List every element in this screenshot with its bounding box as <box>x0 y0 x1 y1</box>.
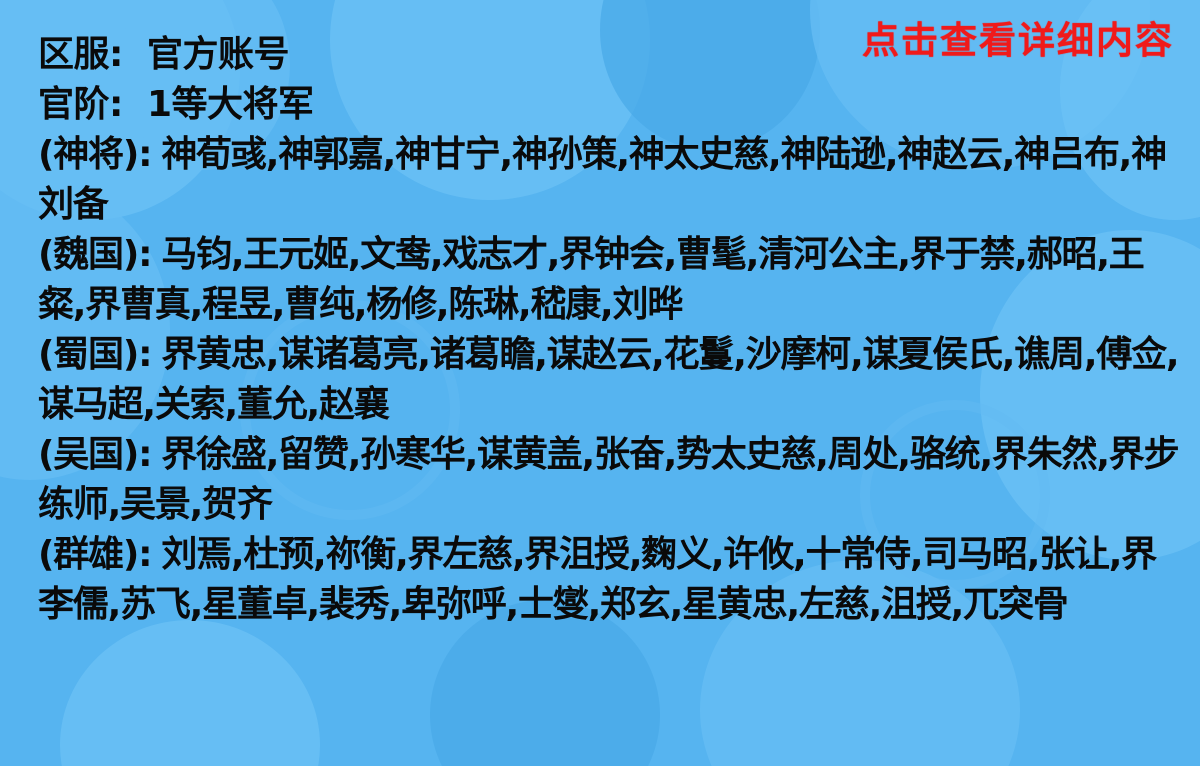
rank-value: 1等大将军 <box>147 84 314 125</box>
hero-group-shuguo: (蜀国):界黄忠,谋诸葛亮,诸葛瞻,谋赵云,花鬘,沙摩柯,谋夏侯氏,谯周,傅佥,… <box>38 330 1180 430</box>
hero-group-list: 刘焉,杜预,祢衡,界左慈,界沮授,麴义,许攸,十常侍,司马昭,张让,界李儒,苏飞… <box>38 534 1156 625</box>
account-detail-panel: 区服: 官方账号 官阶: 1等大将军 (神将):神荀彧,神郭嘉,神甘宁,神孙策,… <box>38 30 1180 630</box>
hero-group-list: 神荀彧,神郭嘉,神甘宁,神孙策,神太史慈,神陆逊,神赵云,神吕布,神刘备 <box>38 134 1166 225</box>
hero-group-qunxiong: (群雄):刘焉,杜预,祢衡,界左慈,界沮授,麴义,许攸,十常侍,司马昭,张让,界… <box>38 530 1180 630</box>
screen-root: 点击查看详细内容 区服: 官方账号 官阶: 1等大将军 (神将):神荀彧,神郭嘉… <box>0 0 1200 766</box>
bubble-decoration <box>60 620 320 766</box>
hero-group-label: (魏国): <box>38 234 151 275</box>
hero-group-weiguo: (魏国):马钧,王元姬,文鸯,戏志才,界钟会,曹髦,清河公主,界于禁,郝昭,王粲… <box>38 230 1180 330</box>
hero-group-label: (蜀国): <box>38 334 151 375</box>
rank-row: 官阶: 1等大将军 <box>38 80 1180 130</box>
hero-group-shenjiang: (神将):神荀彧,神郭嘉,神甘宁,神孙策,神太史慈,神陆逊,神赵云,神吕布,神刘… <box>38 130 1180 230</box>
hero-group-label: (群雄): <box>38 534 151 575</box>
hero-group-list: 马钧,王元姬,文鸯,戏志才,界钟会,曹髦,清河公主,界于禁,郝昭,王粲,界曹真,… <box>38 234 1144 325</box>
hero-group-label: (吴国): <box>38 434 151 475</box>
server-value: 官方账号 <box>147 34 289 75</box>
rank-label: 官阶: <box>38 84 123 125</box>
hero-group-list: 界徐盛,留赞,孙寒华,谋黄盖,张奋,势太史慈,周处,骆统,界朱然,界步练师,吴景… <box>38 434 1178 525</box>
hero-group-label: (神将): <box>38 134 151 175</box>
server-label: 区服: <box>38 34 123 75</box>
hero-group-wuguo: (吴国):界徐盛,留赞,孙寒华,谋黄盖,张奋,势太史慈,周处,骆统,界朱然,界步… <box>38 430 1180 530</box>
server-row: 区服: 官方账号 <box>38 30 1180 80</box>
hero-group-list: 界黄忠,谋诸葛亮,诸葛瞻,谋赵云,花鬘,沙摩柯,谋夏侯氏,谯周,傅佥,谋马超,关… <box>38 334 1178 425</box>
